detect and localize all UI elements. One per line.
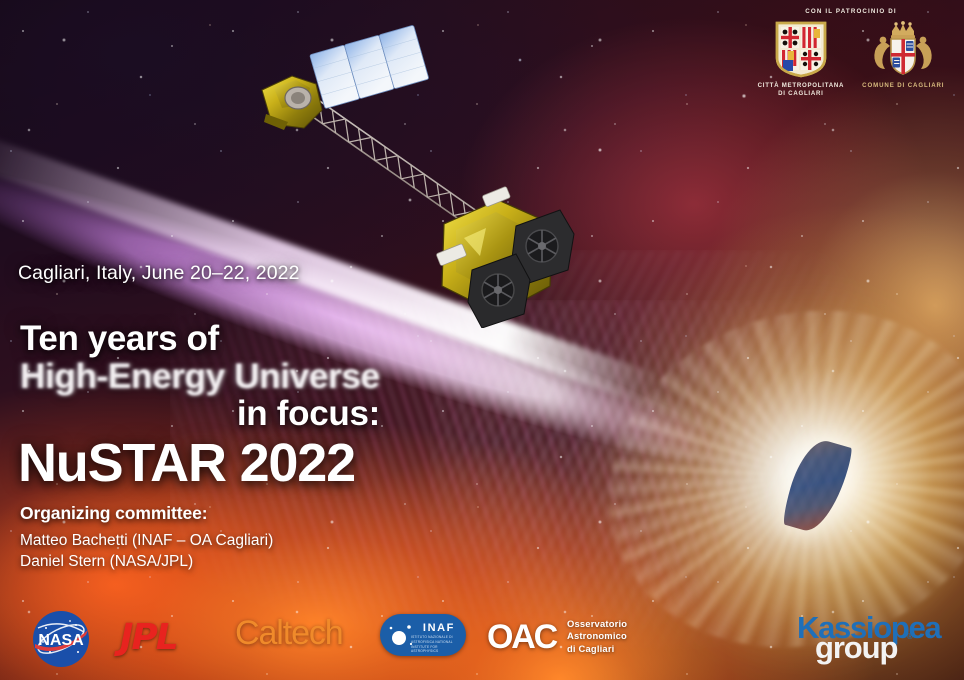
crest-caption: CITTÀ METROPOLITANA DI CAGLIARI [758,82,845,98]
committee-member: Matteo Bachetti (INAF – OA Cagliari) [20,531,430,551]
title-line-high-energy-universe: High-Energy Universe [20,359,430,394]
oac-wordmark: OAC [487,620,556,654]
inaf-wordmark: INAF [423,622,455,634]
event-date-location: Cagliari, Italy, June 20–22, 2022 [18,262,430,285]
conference-poster: CON IL PATROCINIO DI [0,0,964,680]
oac-subtitle-line3: di Cagliari [567,643,615,654]
poster-text-block: Cagliari, Italy, June 20–22, 2022 Ten ye… [0,262,430,572]
title-line-nustar-2022: NuSTAR 2022 [18,435,430,491]
kassiopea-group-word: group [815,632,897,663]
crest-caption-line2: DI CAGLIARI [778,90,824,97]
patronage-label: CON IL PATROCINIO DI [748,8,954,15]
oac-subtitle-line2: Astronomico [567,630,627,641]
nasa-meatball-icon: NASA [26,608,96,670]
nasa-wordmark: NASA [38,632,84,649]
sponsor-logo-jpl: JPL [120,620,177,656]
title-line-in-focus: in focus: [0,396,380,431]
committee-member: Daniel Stern (NASA/JPL) [20,552,430,572]
crest-comune-di-cagliari: COMUNE DI CAGLIARI [862,20,944,90]
inaf-subtitle: ISTITUTO NAZIONALE DI ASTROFISICA NATION… [411,635,455,654]
oac-subtitle-line1: Osservatorio [567,618,627,629]
kassiopea-trademark: ® [907,632,913,641]
jpl-wordmark: JPL [120,620,177,656]
citta-metropolitana-crest-icon [774,20,828,78]
organizing-committee-heading: Organizing committee: [20,503,430,524]
focal-plane-bench [436,186,574,328]
oac-subtitle: Osservatorio Astronomico di Cagliari [567,618,627,655]
crest-citta-metropolitana: CITTÀ METROPOLITANA DI CAGLIARI [758,20,845,98]
sponsor-logo-nasa: NASA [26,608,96,670]
title-line-ten-years: Ten years of [20,321,430,356]
caltech-wordmark: Caltech [235,616,343,650]
solar-array [310,25,429,109]
inaf-pill-icon: INAF ISTITUTO NAZIONALE DI ASTROFISICA N… [380,614,466,656]
sponsor-logo-inaf: INAF ISTITUTO NAZIONALE DI ASTROFISICA N… [380,614,466,656]
crest-caption-line1: CITTÀ METROPOLITANA [758,82,845,89]
sponsor-logo-kassiopea-group: Kassiopea group ® [797,610,945,662]
sponsor-logo-oac: OAC Osservatorio Astronomico di Cagliari [487,618,627,655]
patronage-block: CON IL PATROCINIO DI [748,8,954,112]
crest-caption-line1: COMUNE DI CAGLIARI [862,82,944,89]
sponsor-logo-caltech: Caltech [235,616,343,650]
crest-caption: COMUNE DI CAGLIARI [862,82,944,90]
optics-bench [262,76,322,130]
comune-di-cagliari-crest-icon [862,20,944,78]
